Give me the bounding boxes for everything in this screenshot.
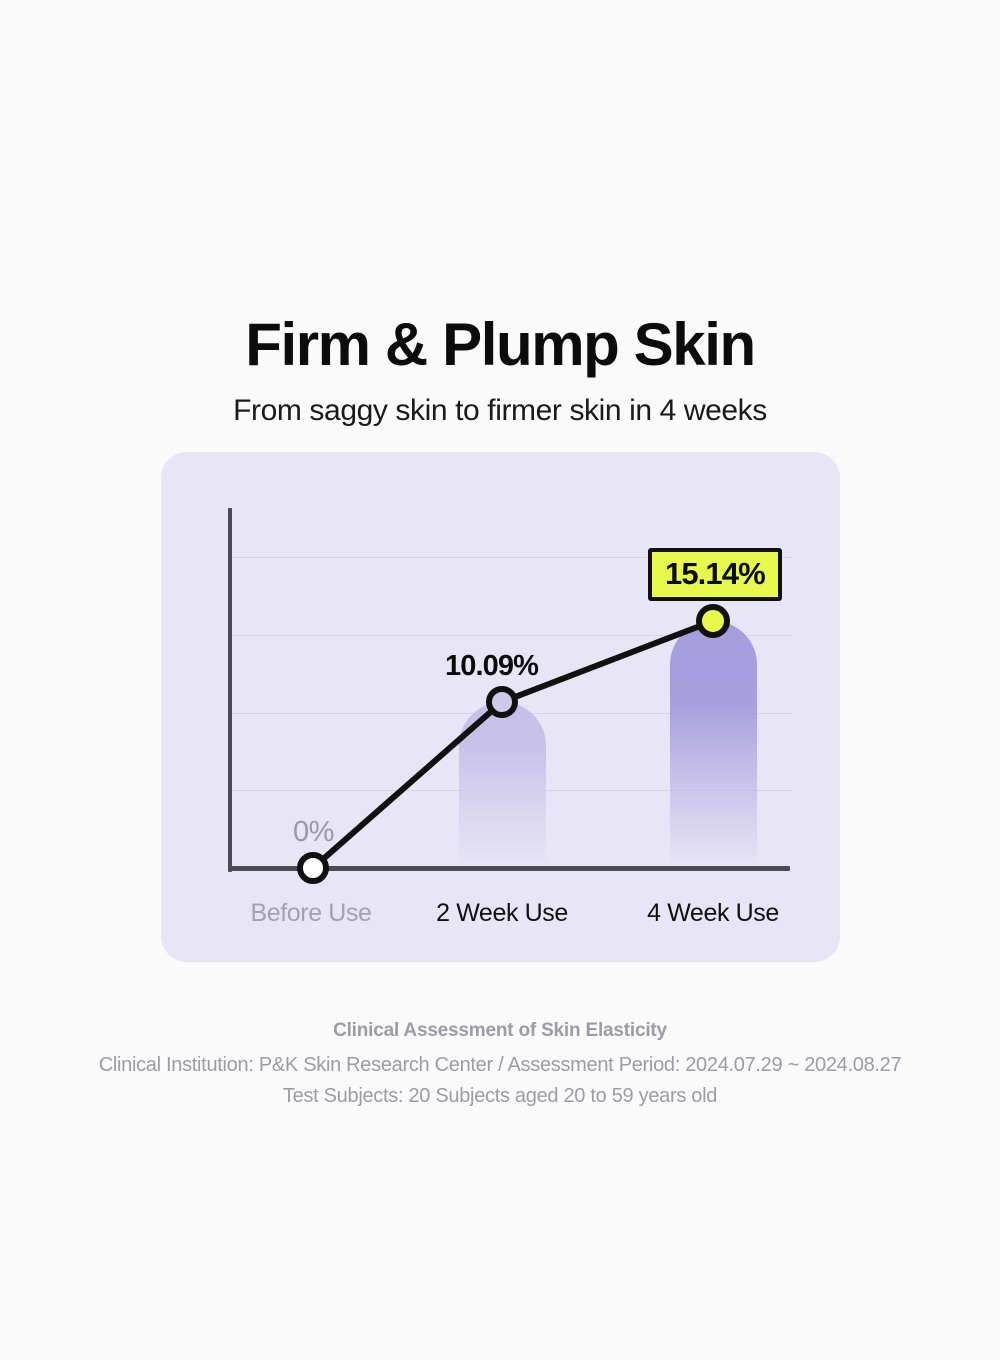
data-point-2-week-use [489,689,515,715]
footer-study-title: Clinical Assessment of Skin Elasticity [0,1020,1000,1042]
data-label-4-week-use-badge: 15.14% [648,548,782,601]
x-axis-label-before-use: Before Use [211,899,411,928]
footer-test-subjects: Test Subjects: 20 Subjects aged 20 to 59… [0,1081,1000,1112]
x-axis-label-2-week-use: 2 Week Use [402,899,602,928]
page-root: Firm & Plump Skin From saggy skin to fir… [0,0,1000,1360]
trend-line-layer [161,452,840,962]
x-axis-label-4-week-use: 4 Week Use [613,899,813,928]
page-subtitle: From saggy skin to firmer skin in 4 week… [0,393,1000,429]
data-label-before-use: 0% [293,816,334,849]
data-point-4-week-use [699,607,727,635]
footer-institution-period: Clinical Institution: P&K Skin Research … [0,1050,1000,1081]
footer: Clinical Assessment of Skin Elasticity C… [0,1020,1000,1112]
data-label-2-week-use: 10.09% [445,650,538,683]
chart-plot-area: 0% 10.09% 15.14% Before Use 2 Week Use 4… [161,452,840,962]
chart-card: 0% 10.09% 15.14% Before Use 2 Week Use 4… [161,452,840,962]
data-point-before-use [300,855,326,881]
page-title: Firm & Plump Skin [0,312,1000,378]
